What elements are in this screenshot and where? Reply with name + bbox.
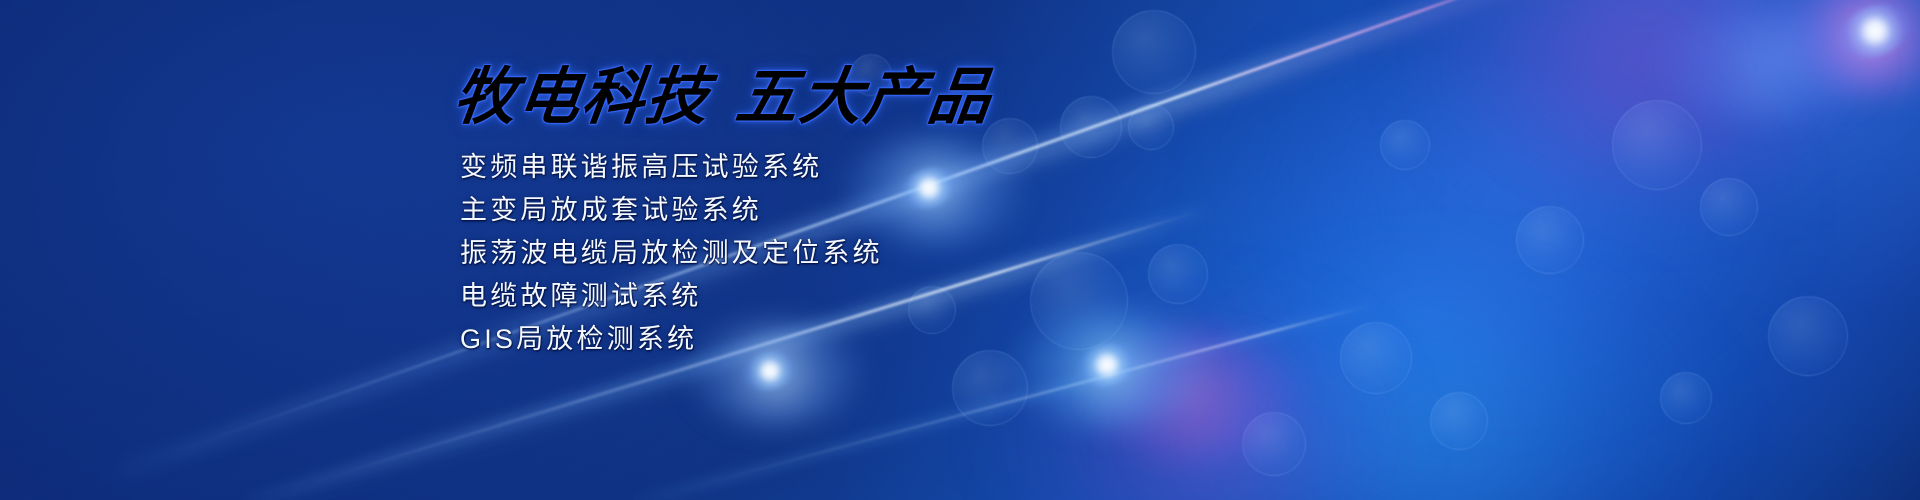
product-list-item: 振荡波电缆局放检测及定位系统 [460,232,883,275]
product-list-item: 电缆故障测试系统 [460,275,883,318]
headline-part-2: 五大产品 [732,64,996,132]
headline-part-1: 牧电科技 [450,64,714,132]
banner-headline: 牧电科技五大产品 [449,46,998,136]
product-list-item: 变频串联谐振高压试验系统 [460,146,883,189]
product-list: 变频串联谐振高压试验系统 主变局放成套试验系统 振荡波电缆局放检测及定位系统 电… [460,146,883,361]
promo-banner: 牧电科技五大产品 变频串联谐振高压试验系统 主变局放成套试验系统 振荡波电缆局放… [0,0,1920,500]
banner-content: 牧电科技五大产品 变频串联谐振高压试验系统 主变局放成套试验系统 振荡波电缆局放… [0,0,1920,500]
product-list-item: GIS局放检测系统 [460,318,883,361]
product-list-item: 主变局放成套试验系统 [460,189,883,232]
